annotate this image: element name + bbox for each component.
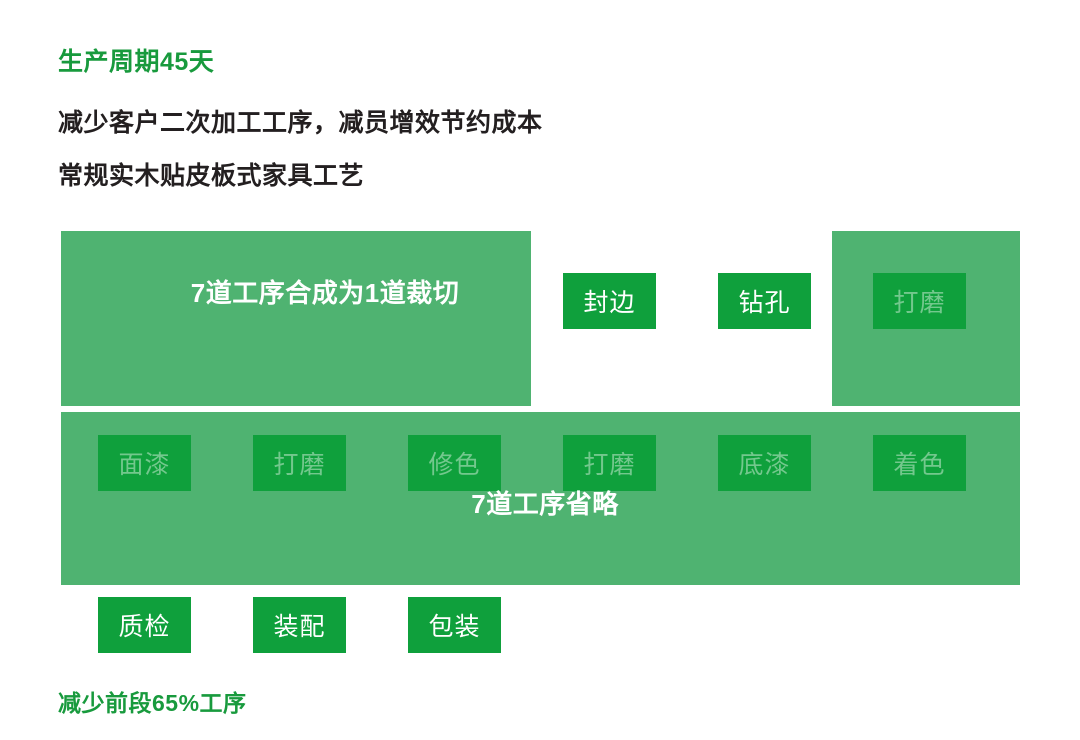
process-box-row3-1: 质检 <box>98 597 191 653</box>
process-box-row2-4-overlay: 打磨 <box>563 435 656 491</box>
process-box-row1-5: 钻孔 <box>718 273 811 329</box>
overlay-panel-row1-left <box>61 231 531 406</box>
process-box-row1-4: 封边 <box>563 273 656 329</box>
slide-canvas: 生产周期45天 减少客户二次加工工序，减员增效节约成本 常规实木贴皮板式家具工艺… <box>0 0 1080 740</box>
process-box-row2-1-overlay: 面漆 <box>98 435 191 491</box>
process-box-row2-2-overlay: 打磨 <box>253 435 346 491</box>
process-box-row2-3-overlay: 修色 <box>408 435 501 491</box>
process-box-row3-2: 装配 <box>253 597 346 653</box>
process-box-row2-5-overlay: 底漆 <box>718 435 811 491</box>
subtitle-process: 常规实木贴皮板式家具工艺 <box>58 156 364 192</box>
process-box-row1-6: 打磨 <box>873 273 966 329</box>
page-title-production-cycle: 生产周期45天 <box>58 42 214 78</box>
callout-omit-label: 7道工序省略 <box>405 487 685 522</box>
process-box-row2-6-overlay: 着色 <box>873 435 966 491</box>
callout-merge-label: 7道工序合成为1道裁切 <box>155 276 495 311</box>
process-box-row3-3: 包装 <box>408 597 501 653</box>
footer-reduction-label: 减少前段65%工序 <box>58 684 247 718</box>
subtitle-benefit: 减少客户二次加工工序，减员增效节约成本 <box>58 103 543 139</box>
